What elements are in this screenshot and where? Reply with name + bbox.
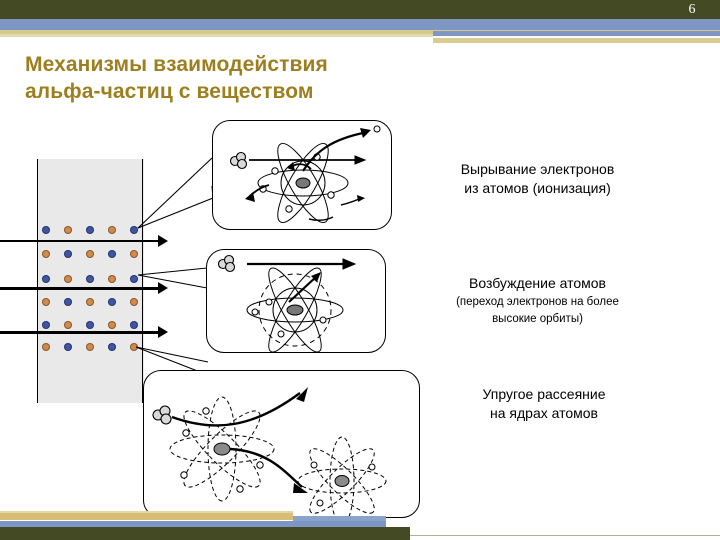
header-tan-bar-right [433,38,720,43]
atom-dot-blue [42,226,50,234]
atom-dot-orange [42,343,50,351]
alpha-beam-arrow [0,287,160,290]
page-title-line-2: альфа-частиц с веществом [25,79,445,106]
atom-dot-orange [42,298,50,306]
atom-row [42,249,138,258]
label-ionization-line-1: Вырывание электронов [410,160,665,179]
atom-dot-orange [86,250,94,258]
page-number: 6 [680,0,704,19]
label-excitation: Возбуждение атомов (переход электронов н… [400,274,675,327]
atom-dot-blue [64,298,72,306]
atom-dot-blue [86,275,94,283]
label-elastic-scattering-line-1: Упругое рассеяние [420,385,668,404]
label-ionization: Вырывание электронов из атомов (ионизаци… [410,160,665,198]
header-olive-bar [0,0,720,19]
material-slab-left-edge [37,159,38,403]
label-excitation-sub-line-1: (переход электронов на более [400,295,675,310]
callout-elastic-scattering[interactable] [143,370,420,518]
page-title-line-1: Механизмы взаимодействия [25,52,445,79]
atom-dot-blue [86,226,94,234]
label-elastic-scattering-line-2: на ядрах атомов [420,404,668,423]
page-title: Механизмы взаимодействия альфа-частиц с … [25,52,445,106]
atom-dot-blue [130,321,138,329]
atom-row [42,225,138,234]
header-tan-bar-left [0,34,433,37]
atom-row [42,342,138,351]
atom-dot-orange [64,321,72,329]
atom-dot-orange [86,343,94,351]
alpha-beam-arrow [0,331,160,334]
atom-dot-blue [64,343,72,351]
atom-dot-blue [108,298,116,306]
atom-dot-blue [42,321,50,329]
footer-olive-bar [0,527,410,540]
header-blue-bar-right [433,31,720,36]
alpha-beam-arrowhead [158,235,168,247]
atom-dot-blue [130,226,138,234]
excitation-diagram [207,250,385,352]
callout-excitation[interactable] [206,249,386,353]
atom-dot-blue [42,275,50,283]
footer-tan-bar [0,513,293,520]
atom-dot-orange [64,275,72,283]
atom-dot-orange [130,343,138,351]
alpha-beam-arrowhead [158,326,168,338]
footer-hairline [410,535,720,536]
header-blue-bar [0,19,720,30]
atom-dot-orange [130,298,138,306]
label-elastic-scattering: Упругое рассеяние на ядрах атомов [420,385,668,423]
atom-dot-blue [130,275,138,283]
label-excitation-sub-line-2: высокие орбиты) [400,312,675,327]
atom-dot-orange [130,250,138,258]
ionization-diagram [213,121,391,229]
alpha-beam-arrow [0,240,160,242]
atom-row [42,320,138,329]
atom-dot-orange [108,321,116,329]
label-excitation-title: Возбуждение атомов [400,274,675,293]
atom-dot-orange [108,226,116,234]
atom-dot-orange [108,275,116,283]
atom-dot-blue [64,250,72,258]
material-slab-right-edge [142,159,143,403]
label-ionization-line-2: из атомов (ионизация) [410,179,665,198]
atom-dot-blue [86,321,94,329]
elastic-scattering-diagram [144,371,419,517]
alpha-beam-arrowhead [158,282,168,294]
atom-dot-blue [108,250,116,258]
atom-dot-orange [64,226,72,234]
atom-row [42,274,138,283]
atom-dot-orange [42,250,50,258]
callout-ionization[interactable] [212,120,392,230]
atom-dot-blue [108,343,116,351]
atom-dot-orange [86,298,94,306]
atom-row [42,297,138,306]
